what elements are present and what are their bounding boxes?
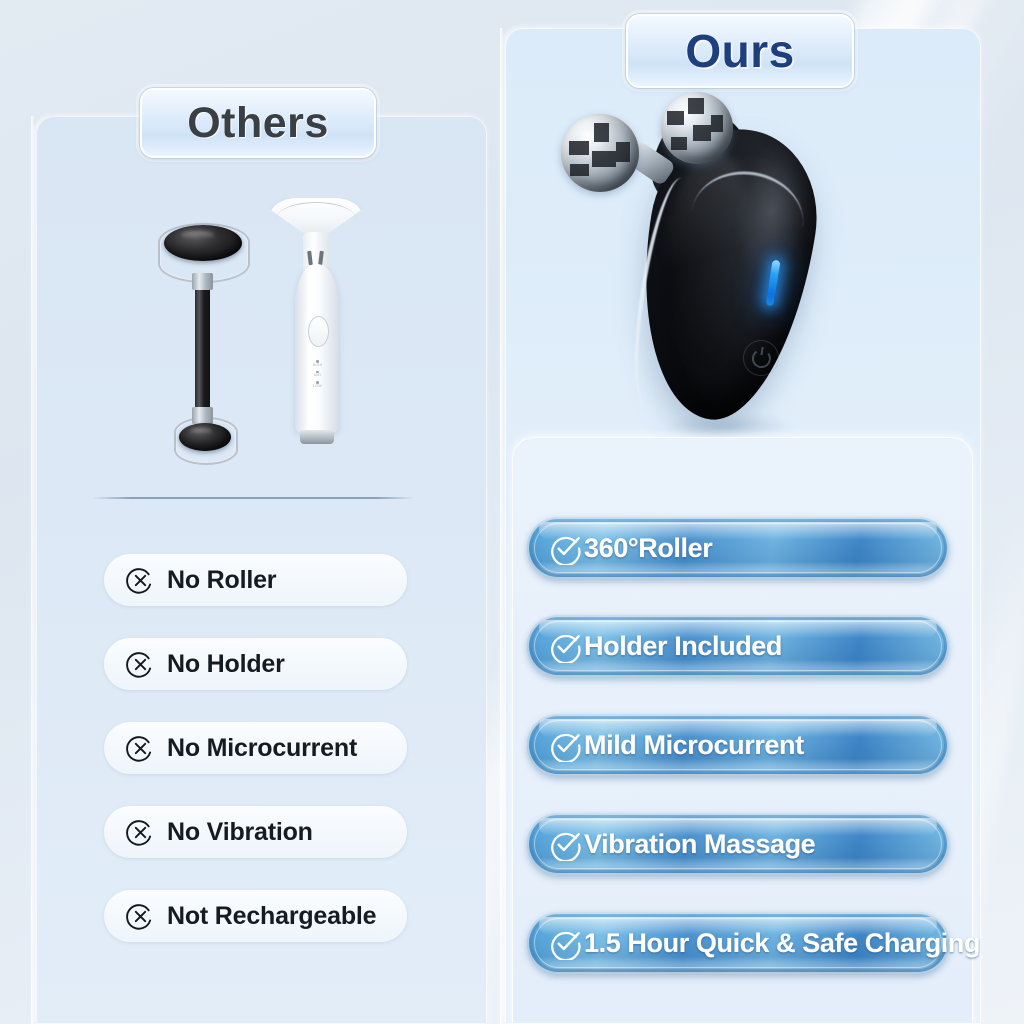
others-badge: Others <box>140 88 376 158</box>
others-feature-label: Not Rechargeable <box>167 902 376 931</box>
circle-check-icon <box>549 630 582 663</box>
device-shadow <box>665 414 795 438</box>
ours-feature-label: Vibration Massage <box>584 829 815 860</box>
circle-check-icon <box>549 927 582 960</box>
others-feature-pill[interactable]: No Roller <box>104 554 407 606</box>
neck-device-mode-label: HIGH <box>313 363 323 367</box>
circle-x-icon <box>126 902 155 931</box>
circle-check-icon <box>549 828 582 861</box>
others-divider <box>92 497 415 499</box>
others-feature-pill[interactable]: No Microcurrent <box>104 722 407 774</box>
white-neck-device-image: HIGH MID LOW <box>270 198 362 450</box>
ours-badge-label: Ours <box>685 28 794 74</box>
others-badge-label: Others <box>187 102 329 145</box>
others-feature-pill[interactable]: No Holder <box>104 638 407 690</box>
circle-x-icon <box>126 566 155 595</box>
roller-handle <box>195 277 210 425</box>
others-feature-label: No Microcurrent <box>167 734 357 763</box>
ours-feature-pill[interactable]: 1.5 Hour Quick & Safe Charging <box>527 912 949 974</box>
device-roller-ball-left <box>561 114 639 192</box>
neck-device-base <box>300 430 334 444</box>
neck-device-mode-label: MID <box>314 373 321 377</box>
neck-device-prongs <box>306 251 326 265</box>
roller-ferrule <box>192 273 213 290</box>
ours-feature-pill[interactable]: Vibration Massage <box>527 813 949 875</box>
neck-device-body: HIGH MID LOW <box>295 264 339 434</box>
ours-feature-label: 360°Roller <box>584 533 712 564</box>
comparison-infographic: Others HIGH MID LOW No <box>0 0 1024 1024</box>
roller-ferrule <box>192 407 213 424</box>
others-feature-label: No Holder <box>167 650 285 679</box>
ours-badge: Ours <box>626 14 854 88</box>
ours-feature-pill[interactable]: 360°Roller <box>527 517 949 579</box>
circle-x-icon <box>126 650 155 679</box>
others-feature-label: No Roller <box>167 566 276 595</box>
ours-feature-pill[interactable]: Mild Microcurrent <box>527 714 949 776</box>
panel-edge-highlight <box>500 28 503 1024</box>
panel-edge-highlight <box>31 116 34 1024</box>
neck-device-mode-indicators: HIGH MID LOW <box>307 360 328 392</box>
jade-roller-image <box>148 205 258 470</box>
ours-feature-pill[interactable]: Holder Included <box>527 615 949 677</box>
circle-x-icon <box>126 818 155 847</box>
circle-check-icon <box>549 532 582 565</box>
roller-stone-top <box>164 225 242 261</box>
ours-feature-label: Mild Microcurrent <box>584 730 804 761</box>
ours-feature-label: Holder Included <box>584 631 782 662</box>
others-feature-pill[interactable]: Not Rechargeable <box>104 890 407 942</box>
neck-device-mode-label: LOW <box>313 384 322 388</box>
others-feature-label: No Vibration <box>167 818 313 847</box>
circle-x-icon <box>126 734 155 763</box>
neck-device-power-button <box>308 316 329 347</box>
circle-check-icon <box>549 729 582 762</box>
others-feature-pill[interactable]: No Vibration <box>104 806 407 858</box>
device-roller-ball-right <box>661 92 733 164</box>
ours-device-image <box>545 92 845 457</box>
roller-stone-bottom <box>179 423 231 451</box>
ours-feature-label: 1.5 Hour Quick & Safe Charging <box>584 928 980 959</box>
